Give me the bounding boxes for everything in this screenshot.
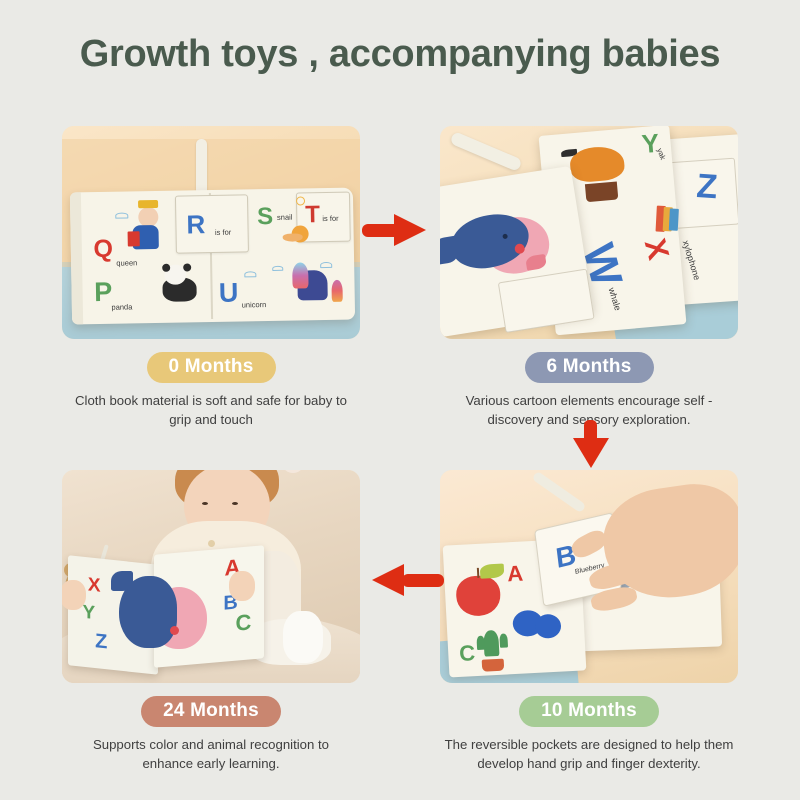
caption-10-months: The reversible pockets are designed to h… — [440, 736, 738, 773]
baby-hand — [229, 571, 255, 601]
letter-X: X — [88, 575, 101, 595]
letter-A: A — [507, 563, 524, 586]
letter-S: S — [257, 205, 273, 229]
arrow-shaft — [402, 574, 444, 587]
cloud-icon — [320, 262, 332, 268]
word-t-is-for: is for — [322, 214, 338, 223]
word-r-is-for: is for — [215, 228, 231, 237]
badge-0-months: 0 Months — [147, 352, 276, 383]
apple-illustration — [455, 575, 501, 617]
panda-ear-left — [162, 263, 170, 271]
page-title: Growth toys , accompanying babies — [0, 33, 800, 76]
caption-0-months: Cloth book material is soft and safe for… — [62, 392, 360, 429]
word-unicorn: unicorn — [242, 300, 267, 309]
photo-baby-reading-book: X Y Z A B C — [62, 470, 360, 683]
book-spine — [70, 192, 83, 324]
card-24-months: X Y Z A B C 24 Months Supports color and… — [62, 470, 360, 773]
cactus-illustration — [483, 630, 499, 657]
unicorn-mane — [292, 262, 308, 288]
caption-24-months: Supports color and animal recognition to… — [62, 736, 360, 773]
badge-10-months: 10 Months — [519, 696, 659, 727]
badge-row: 24 Months — [62, 696, 360, 727]
panda-ear-right — [183, 263, 191, 271]
baby-eye-left — [202, 502, 208, 505]
letter-C: C — [459, 642, 476, 665]
word-yak: yak — [656, 147, 668, 161]
queen-book — [127, 231, 139, 246]
letter-C: C — [236, 612, 252, 635]
card-10-months: E A C B Blueberry 10 Months The reversib — [440, 470, 738, 773]
word-queen: queen — [116, 259, 137, 268]
arrow-left-icon — [372, 562, 444, 598]
letter-R: R — [186, 211, 205, 237]
cloth-book: Q queen R is for S snail T is for P pand… — [70, 187, 355, 324]
arrow-right-icon — [362, 212, 434, 248]
badge-6-months: 6 Months — [525, 352, 654, 383]
badge-24-months: 24 Months — [141, 696, 281, 727]
letter-Z: Z — [95, 631, 107, 652]
letter-U: U — [219, 279, 239, 306]
apple-leaf — [479, 564, 504, 579]
cactus-pot — [482, 659, 505, 672]
letter-Z: Z — [695, 169, 718, 204]
badge-row: 0 Months — [62, 352, 360, 383]
letter-T: T — [305, 203, 320, 227]
badge-row: 6 Months — [440, 352, 738, 383]
baby-eye-right — [232, 502, 238, 505]
word-whale: whale — [607, 287, 623, 312]
cloud-icon — [272, 265, 283, 270]
arrow-head — [573, 438, 609, 468]
letter-Q: Q — [93, 237, 113, 262]
cactus-arm — [476, 636, 485, 650]
photo-angled-cloth-pages: Z Y yak W whale X xylophone — [440, 126, 738, 339]
baby-hand — [62, 580, 86, 610]
arrow-head — [394, 214, 426, 246]
cloth-book: X Y Z A B C — [68, 557, 265, 672]
cloud-icon — [115, 212, 128, 218]
card-0-months: Q queen R is for S snail T is for P pand… — [62, 126, 360, 429]
xylophone-illustration — [669, 209, 679, 231]
letter-Y: Y — [82, 603, 95, 623]
cloud-icon — [244, 271, 256, 277]
yak-illustration — [569, 145, 626, 184]
cactus-arm — [499, 634, 508, 648]
unicorn-tail — [332, 280, 343, 302]
book-page-whale — [440, 166, 594, 337]
card-6-months: Z Y yak W whale X xylophone — [440, 126, 738, 429]
whale-fin — [525, 254, 547, 271]
yak-legs — [585, 182, 618, 203]
badge-row: 10 Months — [440, 696, 738, 727]
word-panda: panda — [111, 302, 132, 311]
arrow-head — [372, 564, 404, 596]
blueberry-illustration — [534, 614, 561, 639]
photo-flat-cloth-book: Q queen R is for S snail T is for P pand… — [62, 126, 360, 339]
photo-hand-lifting-pocket: E A C B Blueberry — [440, 470, 738, 683]
letter-X: X — [639, 236, 673, 263]
arrow-down-icon — [571, 420, 611, 472]
baby-sock — [283, 611, 323, 663]
apple-stem — [477, 568, 480, 578]
letter-P: P — [94, 279, 112, 306]
queen-illustration — [138, 207, 158, 227]
crown-icon — [138, 200, 158, 208]
word-snail: snail — [277, 212, 293, 221]
